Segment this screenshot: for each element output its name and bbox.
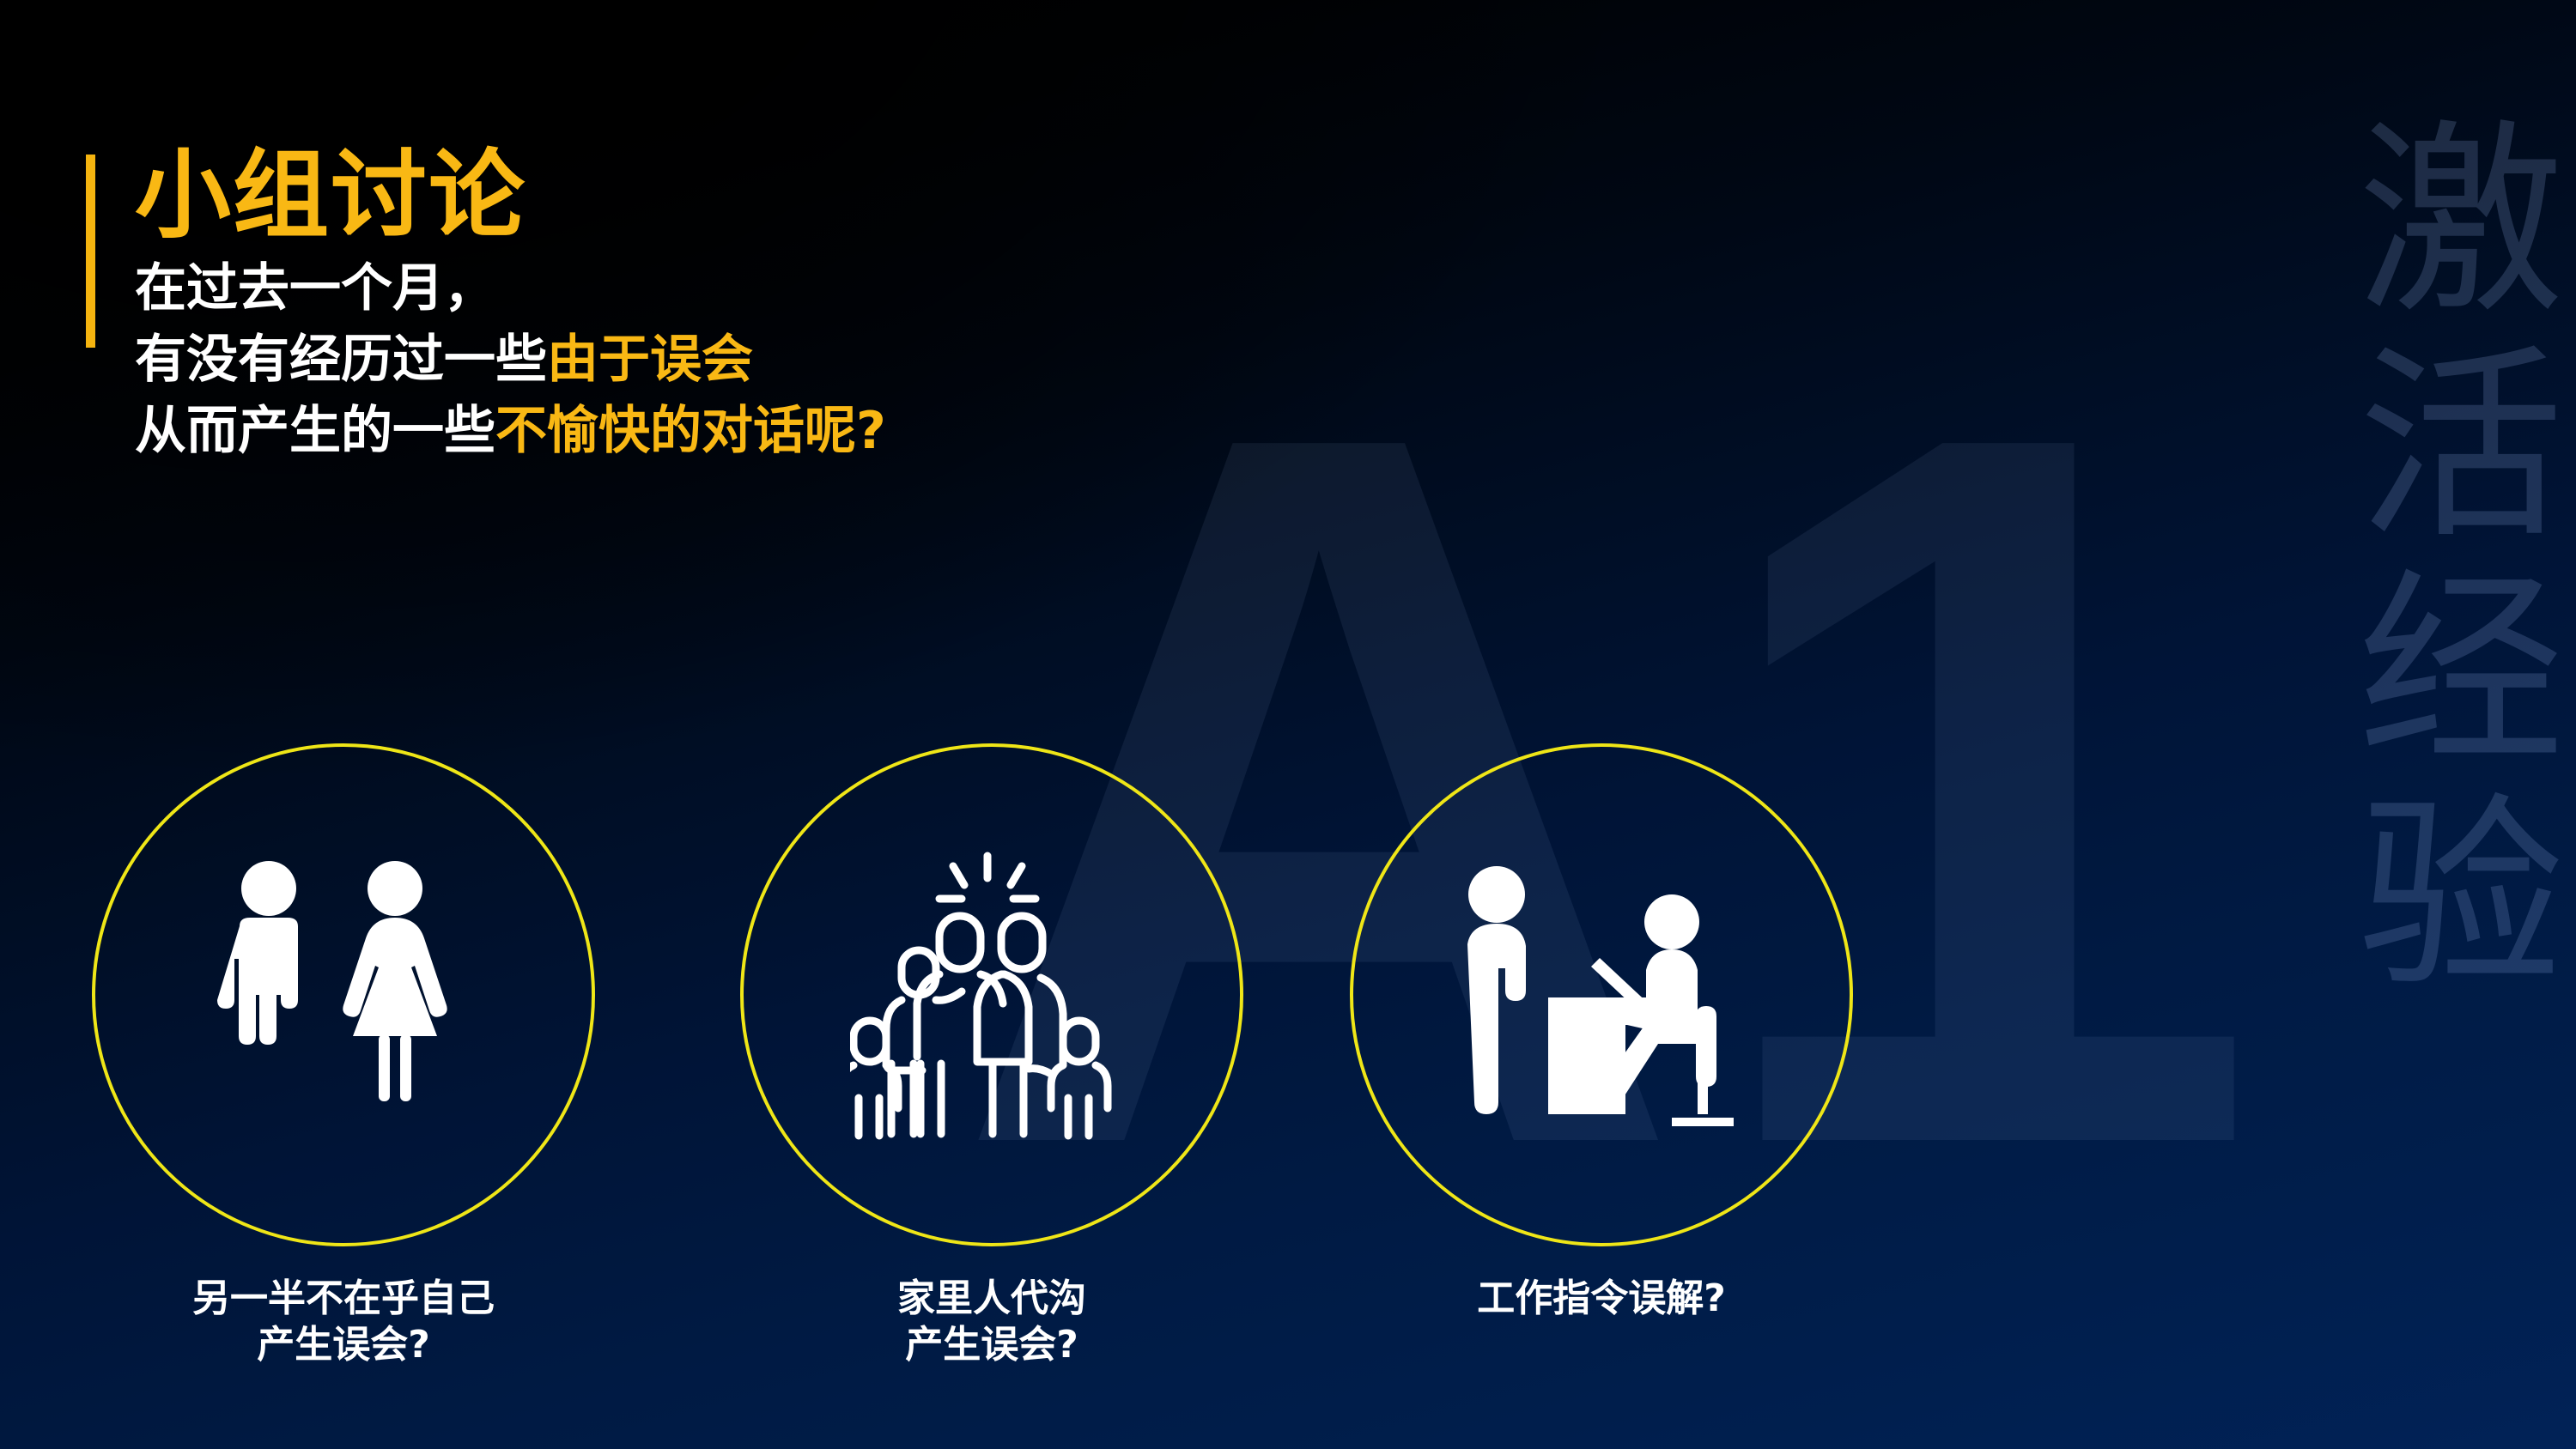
prompt-caption-1-line1: 另一半不在乎自己 [192,1276,495,1320]
watermark-vertical-text: 激 活 经 验 [2358,110,2564,1008]
watermark-vertical-char-2: 活 [2358,335,2564,560]
prompt-card-family[interactable]: 家里人代沟 产生误会? [734,743,1249,1367]
icon-ring-1 [92,743,595,1246]
prompt-card-office[interactable]: 工作指令误解? [1344,743,1859,1322]
gold-accent-bar [86,155,95,348]
question-line-3-highlight: 不愉快的对话呢? [495,401,886,461]
prompt-caption-2: 家里人代沟 产生误会? [734,1276,1249,1367]
family-icon [850,849,1133,1141]
question-line-3: 从而产生的一些不愉快的对话呢? [135,402,886,461]
watermark-vertical-char-3: 经 [2358,559,2564,784]
icon-ring-3 [1350,743,1853,1246]
prompt-caption-2-line1: 家里人代沟 [897,1276,1086,1320]
question-line-2-plain: 有没有经历过一些 [135,330,547,390]
icon-ring-2 [740,743,1243,1246]
prompt-caption-1: 另一半不在乎自己 产生误会? [86,1276,601,1367]
prompt-card-couple[interactable]: 另一半不在乎自己 产生误会? [86,743,601,1367]
couple-icon [202,858,485,1132]
question-line-2: 有没有经历过一些由于误会 [135,330,886,390]
heading-text-group: 小组讨论 在过去一个月， 有没有经历过一些由于误会 从而产生的一些不愉快的对话呢… [135,148,886,473]
prompt-caption-2-line2: 产生误会? [734,1322,1249,1368]
prompt-caption-3-line1: 工作指令误解? [1477,1276,1726,1320]
watermark-vertical-char-1: 激 [2358,110,2564,335]
question-line-3-plain: 从而产生的一些 [135,401,495,461]
heading-block: 小组讨论 在过去一个月， 有没有经历过一些由于误会 从而产生的一些不愉快的对话呢… [86,148,886,473]
prompt-caption-1-line2: 产生误会? [86,1322,601,1368]
page-title: 小组讨论 [135,148,886,244]
prompt-caption-3: 工作指令误解? [1344,1276,1859,1322]
office-meeting-icon [1447,862,1756,1128]
slide-root: A1 激 活 经 验 小组讨论 在过去一个月， 有没有经历过一些由于误会 从而产… [0,0,2576,1449]
question-line-2-highlight: 由于误会 [547,330,753,390]
question-line-1: 在过去一个月， [135,259,886,318]
discussion-prompt-row: 另一半不在乎自己 产生误会? [0,743,2018,1396]
watermark-vertical-char-4: 验 [2358,784,2564,1009]
